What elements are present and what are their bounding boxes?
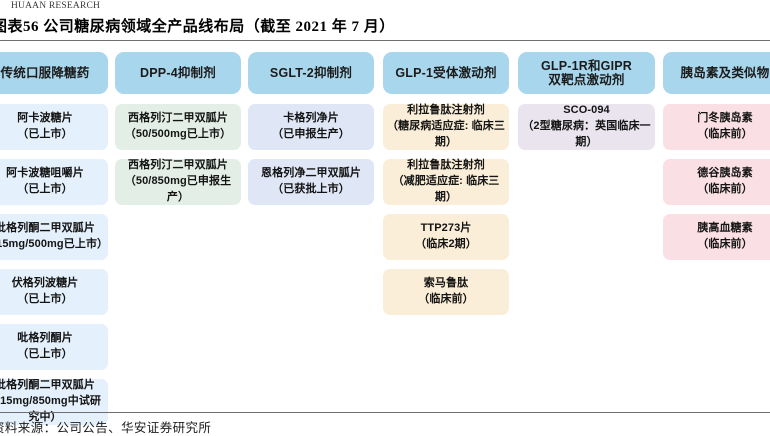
product-cell: 阿卡波糖片（已上市） xyxy=(0,104,108,150)
pipeline-column: DPP-4抑制剂西格列汀二甲双胍片（50/500mg已上市）西格列汀二甲双胍片（… xyxy=(115,52,241,94)
product-status: （糖尿病适应症: 临床三期） xyxy=(386,119,506,151)
product-cell: 利拉鲁肽注射剂（减肥适应症: 临床三期） xyxy=(383,159,509,205)
column-header-2: DPP-4抑制剂 xyxy=(115,52,241,94)
product-cell: 德谷胰岛素（临床前） xyxy=(663,159,770,205)
product-name: 利拉鲁肽注射剂 xyxy=(407,103,485,119)
product-name: 吡格列酮片 xyxy=(17,331,73,347)
source-note: 资料来源：公司公告、华安证券研究所 xyxy=(0,417,770,436)
pipeline-column: GLP-1R和GIPR双靶点激动剂SCO-094（2型糖尿病：英国临床一期） xyxy=(518,52,655,94)
product-name: 门冬胰岛素 xyxy=(697,111,753,127)
pipeline-column: 传统口服降糖药阿卡波糖片（已上市）阿卡波糖咀嚼片（已上市）吡格列酮二甲双胍片（1… xyxy=(0,52,108,94)
product-status: （已上市） xyxy=(17,347,73,363)
product-pipeline-grid: 传统口服降糖药阿卡波糖片（已上市）阿卡波糖咀嚼片（已上市）吡格列酮二甲双胍片（1… xyxy=(0,52,770,407)
pipeline-column: SGLT-2抑制剂卡格列净片（已申报生产）恩格列净二甲双胍片（已获批上市） xyxy=(248,52,374,94)
product-status: （50/850mg已申报生产） xyxy=(118,174,238,206)
product-cell: 利拉鲁肽注射剂（糖尿病适应症: 临床三期） xyxy=(383,104,509,150)
product-cell: 卡格列净片（已申报生产） xyxy=(248,104,374,150)
product-name: 吡格列酮二甲双胍片 xyxy=(0,221,95,237)
product-status: （已上市） xyxy=(17,127,73,143)
product-cell: 阿卡波糖咀嚼片（已上市） xyxy=(0,159,108,205)
column-header-line: 传统口服降糖药 xyxy=(1,66,90,80)
product-status: （临床2期） xyxy=(415,237,477,253)
product-name: 吡格列酮二甲双胍片 xyxy=(0,378,95,394)
product-status: （已上市） xyxy=(17,292,73,308)
product-name: 阿卡波糖片 xyxy=(17,111,73,127)
product-cell: 索马鲁肽（临床前） xyxy=(383,269,509,315)
column-header-3: SGLT-2抑制剂 xyxy=(248,52,374,94)
product-name: 胰高血糖素 xyxy=(697,221,753,237)
product-status: （减肥适应症: 临床三期） xyxy=(386,174,506,206)
product-name: 伏格列波糖片 xyxy=(12,276,79,292)
product-name: 索马鲁肽 xyxy=(424,276,468,292)
product-cell: 吡格列酮片（已上市） xyxy=(0,324,108,370)
column-header-line: SGLT-2抑制剂 xyxy=(270,66,352,80)
figure-title: 图表56 公司糖尿病领域全产品线布局（截至 2021 年 7 月） xyxy=(0,15,770,36)
pipeline-column: 胰岛素及类似物门冬胰岛素（临床前）德谷胰岛素（临床前）胰高血糖素（临床前） xyxy=(663,52,770,94)
column-header-line: 双靶点激动剂 xyxy=(541,73,632,87)
masthead: HUAAN RESEARCH xyxy=(0,0,770,14)
product-status: （2型糖尿病：英国临床一期） xyxy=(521,119,652,151)
column-header-line: 胰岛素及类似物 xyxy=(681,66,770,80)
product-status: （临床前） xyxy=(697,237,753,253)
pipeline-column: GLP-1受体激动剂利拉鲁肽注射剂（糖尿病适应症: 临床三期）利拉鲁肽注射剂（减… xyxy=(383,52,509,94)
product-status: （已获批上市） xyxy=(272,182,350,198)
brand-logo-text: HUAAN RESEARCH xyxy=(11,1,100,11)
footer-divider xyxy=(0,412,770,413)
product-status: （临床前） xyxy=(697,182,753,198)
column-header-line: GLP-1R和GIPR xyxy=(541,59,632,73)
product-cell: TTP273片（临床2期） xyxy=(383,214,509,260)
product-cell: 胰高血糖素（临床前） xyxy=(663,214,770,260)
column-header-6: 胰岛素及类似物 xyxy=(663,52,770,94)
column-header-4: GLP-1受体激动剂 xyxy=(383,52,509,94)
product-name: 恩格列净二甲双胍片 xyxy=(261,166,361,182)
product-cell: 西格列汀二甲双胍片（50/500mg已上市） xyxy=(115,104,241,150)
column-header-1: 传统口服降糖药 xyxy=(0,52,108,94)
title-divider xyxy=(0,40,770,41)
product-cell: 门冬胰岛素（临床前） xyxy=(663,104,770,150)
product-name: TTP273片 xyxy=(421,221,472,237)
column-header-line: GLP-1受体激动剂 xyxy=(395,66,496,80)
product-cell: 吡格列酮二甲双胍片（15mg/500mg已上市） xyxy=(0,214,108,260)
product-cell: 恩格列净二甲双胍片（已获批上市） xyxy=(248,159,374,205)
column-header-5: GLP-1R和GIPR双靶点激动剂 xyxy=(518,52,655,94)
product-cell: SCO-094（2型糖尿病：英国临床一期） xyxy=(518,104,655,150)
product-status: （50/500mg已上市） xyxy=(125,127,231,143)
product-name: 卡格列净片 xyxy=(283,111,339,127)
product-status: （临床前） xyxy=(418,292,474,308)
product-name: 西格列汀二甲双胍片 xyxy=(128,158,228,174)
column-header-line: DPP-4抑制剂 xyxy=(140,66,216,80)
product-name: 西格列汀二甲双胍片 xyxy=(128,111,228,127)
product-cell: 西格列汀二甲双胍片（50/850mg已申报生产） xyxy=(115,159,241,205)
product-status: （已上市） xyxy=(17,182,73,198)
product-name: 阿卡波糖咀嚼片 xyxy=(6,166,84,182)
product-name: 利拉鲁肽注射剂 xyxy=(407,158,485,174)
product-status: （临床前） xyxy=(697,127,753,143)
product-cell: 伏格列波糖片（已上市） xyxy=(0,269,108,315)
product-status: （已申报生产） xyxy=(272,127,350,143)
product-name: SCO-094 xyxy=(563,103,610,119)
product-name: 德谷胰岛素 xyxy=(697,166,753,182)
product-status: （15mg/500mg已上市） xyxy=(0,237,105,253)
